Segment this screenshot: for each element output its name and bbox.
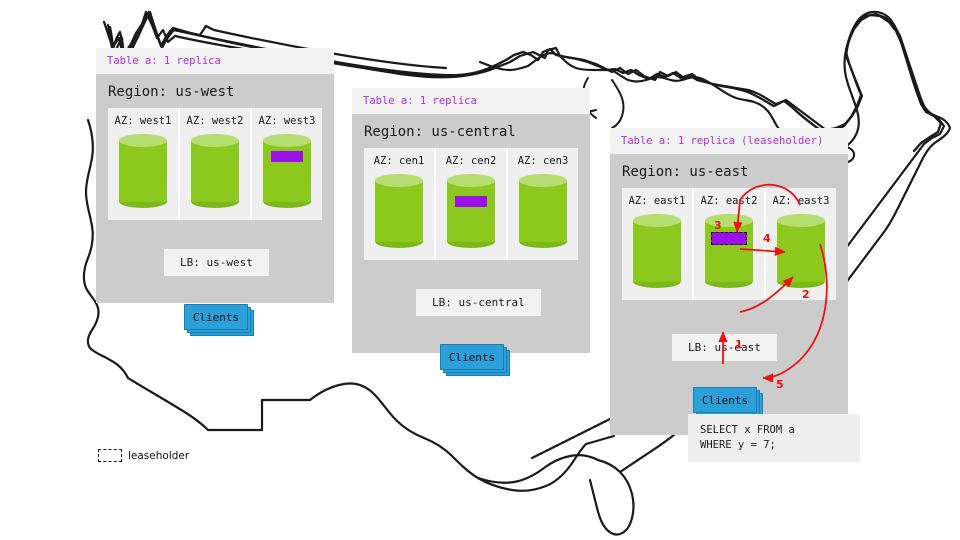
cylinder-top — [191, 134, 239, 147]
az-row: AZ: cen1 AZ: cen2 — [364, 148, 578, 260]
diagram-canvas: Table a: 1 replica Region: us-west AZ: w… — [0, 0, 960, 540]
cylinder-body — [519, 180, 567, 242]
legend: leaseholder — [98, 449, 189, 462]
cylinder-body — [705, 220, 753, 282]
az-label: AZ: west1 — [115, 115, 172, 127]
az-cell-west2[interactable]: AZ: west2 — [180, 108, 250, 220]
node-cylinder[interactable] — [705, 214, 753, 288]
region-table-title: Table a: 1 replica — [96, 48, 334, 74]
az-cell-east1[interactable]: AZ: east1 — [622, 188, 692, 300]
region-body: Region: us-central AZ: cen1 AZ: cen2 — [352, 114, 590, 353]
az-label: AZ: west2 — [187, 115, 244, 127]
region-panel-us-central: Table a: 1 replica Region: us-central AZ… — [352, 88, 590, 353]
arrow-label-1: 1 — [735, 338, 743, 351]
cylinder-body — [191, 140, 239, 202]
cylinder-body — [633, 220, 681, 282]
region-name: Region: us-east — [610, 154, 848, 188]
load-balancer-us-east[interactable]: LB: us-east — [672, 334, 777, 361]
node-cylinder[interactable] — [447, 174, 495, 248]
region-name: Region: us-central — [352, 114, 590, 148]
clients-card-front[interactable]: Clients — [693, 387, 757, 413]
region-panel-us-west: Table a: 1 replica Region: us-west AZ: w… — [96, 48, 334, 303]
az-cell-west1[interactable]: AZ: west1 — [108, 108, 178, 220]
cylinder-top — [777, 214, 825, 227]
cylinder-top — [705, 214, 753, 227]
node-cylinder[interactable] — [191, 134, 239, 208]
region-table-title: Table a: 1 replica — [352, 88, 590, 114]
cylinder-body — [263, 140, 311, 202]
region-name: Region: us-west — [96, 74, 334, 108]
region-table-title: Table a: 1 replica (leaseholder) — [610, 128, 848, 154]
cylinder-body — [375, 180, 423, 242]
az-label: AZ: cen1 — [374, 155, 425, 167]
node-cylinder[interactable] — [777, 214, 825, 288]
clients-us-west[interactable]: Clients — [184, 304, 246, 328]
leaseholder-swatch-icon — [98, 449, 122, 462]
replica-block[interactable] — [271, 151, 303, 162]
arrow-label-5: 5 — [776, 378, 784, 391]
cylinder-body — [447, 180, 495, 242]
clients-us-central[interactable]: Clients — [440, 344, 502, 368]
arrow-label-4: 4 — [763, 232, 771, 245]
az-cell-cen3[interactable]: AZ: cen3 — [508, 148, 578, 260]
cylinder-top — [633, 214, 681, 227]
cylinder-body — [119, 140, 167, 202]
az-label: AZ: east1 — [629, 195, 686, 207]
az-row: AZ: west1 AZ: west2 — [108, 108, 322, 220]
load-balancer-us-central[interactable]: LB: us-central — [416, 289, 541, 316]
sql-query-box: SELECT x FROM a WHERE y = 7; — [688, 414, 860, 462]
az-label: AZ: east3 — [773, 195, 830, 207]
node-cylinder[interactable] — [263, 134, 311, 208]
az-cell-cen2[interactable]: AZ: cen2 — [436, 148, 506, 260]
arrow-label-2: 2 — [802, 288, 810, 301]
arrow-label-3: 3 — [714, 219, 722, 232]
az-label: AZ: cen3 — [518, 155, 569, 167]
leaseholder-replica-block[interactable] — [711, 232, 747, 245]
az-cell-west3[interactable]: AZ: west3 — [252, 108, 322, 220]
replica-block[interactable] — [455, 196, 487, 207]
cylinder-body — [777, 220, 825, 282]
cylinder-top — [519, 174, 567, 187]
az-label: AZ: east2 — [701, 195, 758, 207]
clients-card-front[interactable]: Clients — [440, 344, 504, 370]
az-label: AZ: west3 — [259, 115, 316, 127]
az-cell-cen1[interactable]: AZ: cen1 — [364, 148, 434, 260]
node-cylinder[interactable] — [519, 174, 567, 248]
az-row: AZ: east1 AZ: east2 — [622, 188, 836, 300]
node-cylinder[interactable] — [375, 174, 423, 248]
cylinder-top — [263, 134, 311, 147]
az-cell-east3[interactable]: AZ: east3 — [766, 188, 836, 300]
clients-card-front[interactable]: Clients — [184, 304, 248, 330]
node-cylinder[interactable] — [633, 214, 681, 288]
clients-us-east[interactable]: Clients — [693, 387, 755, 411]
region-body: Region: us-west AZ: west1 AZ: west2 — [96, 74, 334, 303]
cylinder-top — [119, 134, 167, 147]
load-balancer-us-west[interactable]: LB: us-west — [164, 249, 269, 276]
legend-label: leaseholder — [128, 450, 189, 462]
az-cell-east2[interactable]: AZ: east2 — [694, 188, 764, 300]
cylinder-top — [375, 174, 423, 187]
region-body: Region: us-east AZ: east1 AZ: east2 — [610, 154, 848, 435]
cylinder-top — [447, 174, 495, 187]
az-label: AZ: cen2 — [446, 155, 497, 167]
node-cylinder[interactable] — [119, 134, 167, 208]
region-panel-us-east: Table a: 1 replica (leaseholder) Region:… — [610, 128, 848, 435]
